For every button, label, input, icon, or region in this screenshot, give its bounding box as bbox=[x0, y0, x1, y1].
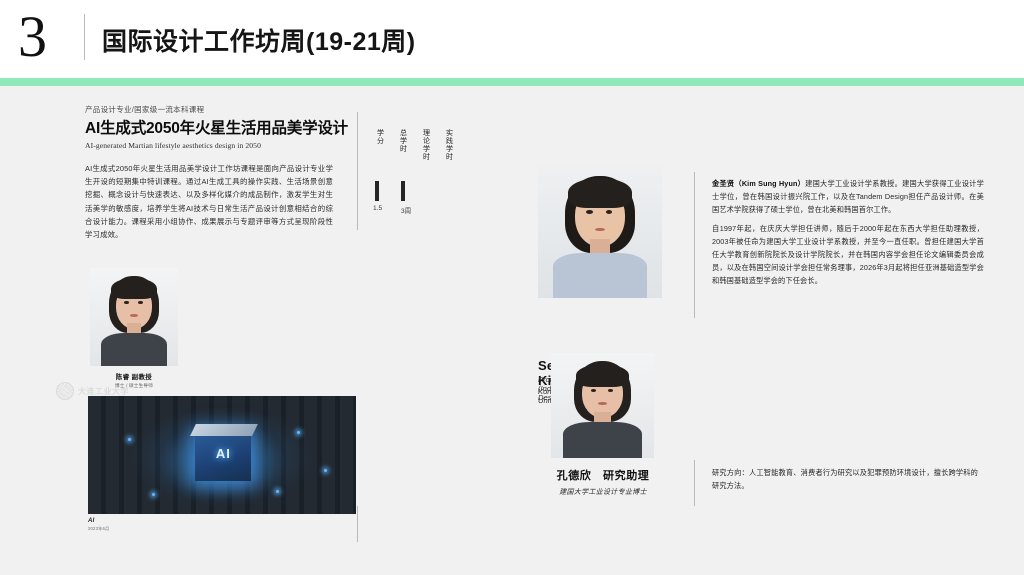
divider-right-top bbox=[694, 172, 695, 318]
credit-bars bbox=[375, 181, 405, 201]
credit-label: 实践学时 bbox=[444, 129, 454, 175]
bio-kong-paragraph-1: 研究方向：人工智能教育、消费者行为研究以及犯罪预防环境设计，擅长跨学科的研究方法… bbox=[712, 466, 978, 492]
credit-values: 1.5 3周 bbox=[373, 205, 417, 215]
credit-label: 总学时 bbox=[398, 129, 408, 175]
bio-kim: 金圣贤（Kim Sung Hyun）建国大学工业设计学系教授。建国大学获得工业设… bbox=[712, 177, 984, 293]
credit-item-1: 总学时 bbox=[398, 129, 411, 175]
bio-kim-paragraph-2: 自1997年起，在庆庆大学担任讲师，随后于2000年起在东西大学担任助理教授，2… bbox=[712, 222, 984, 287]
eye-left bbox=[591, 389, 596, 392]
ai-cube-image: AI bbox=[88, 396, 356, 514]
portrait-image bbox=[538, 165, 662, 298]
credit-item-2: 理论学时 bbox=[421, 129, 434, 175]
credit-item-3: 实践学时 bbox=[444, 129, 457, 175]
credits-labels: 学分 总学时 理论学时 实践学时 bbox=[375, 129, 457, 175]
slide-header: 3 国际设计工作坊周(19-21周) bbox=[0, 0, 1024, 78]
fringe-shape bbox=[111, 278, 157, 300]
cube-label: AI bbox=[195, 446, 251, 461]
divider-right-bottom bbox=[694, 460, 695, 506]
spark-icon bbox=[324, 469, 327, 472]
bio-kong: 研究方向：人工智能教育、消费者行为研究以及犯罪预防环境设计，擅长跨学科的研究方法… bbox=[712, 466, 978, 492]
slide-page: 3 国际设计工作坊周(19-21周) 产品设计专业/国家级一流本科课程 AI生成… bbox=[0, 0, 1024, 575]
bio-kim-paragraph-1: 金圣贤（Kim Sung Hyun）建国大学工业设计学系教授。建国大学获得工业设… bbox=[712, 177, 984, 216]
torso-shape bbox=[563, 422, 641, 458]
seal-icon bbox=[56, 382, 74, 400]
course-title-en: AI-generated Martian lifestyle aesthetic… bbox=[85, 141, 333, 150]
person-subtitle-kong: 建国大学工业设计专业博士 bbox=[525, 487, 681, 497]
torso-shape bbox=[553, 253, 647, 298]
mouth-shape bbox=[595, 228, 605, 231]
credit-label: 学分 bbox=[375, 129, 385, 175]
portrait-name: 陈睿 副教授 bbox=[90, 372, 178, 381]
eye-right bbox=[608, 389, 613, 392]
person-photo-kim bbox=[538, 165, 662, 298]
mouth-shape bbox=[598, 402, 606, 405]
ai-caption-subtitle: 2023年6月 bbox=[88, 526, 109, 532]
chapter-number: 3 bbox=[18, 6, 47, 68]
credit-value-1: 3周 bbox=[401, 205, 417, 215]
fringe-shape bbox=[568, 178, 632, 207]
credit-bar-1 bbox=[401, 181, 405, 201]
credit-item-0: 学分 bbox=[375, 129, 388, 175]
course-title-cn: AI生成式2050年火星生活用品美学设计 bbox=[85, 119, 333, 138]
fringe-shape bbox=[576, 364, 630, 387]
header-divider bbox=[84, 14, 85, 60]
eye-left bbox=[586, 210, 592, 214]
accent-bar bbox=[0, 78, 1024, 86]
torso-shape bbox=[101, 333, 168, 366]
mouth-shape bbox=[130, 314, 137, 317]
portrait-subtitle: 博士 / 硕士生导师 bbox=[90, 383, 178, 389]
ai-image-caption: AI 2023年6月 bbox=[88, 518, 109, 532]
divider-left-top bbox=[357, 112, 358, 230]
person-name-kong: 孔德欣 研究助理 bbox=[533, 467, 673, 483]
slide-canvas: 产品设计专业/国家级一流本科课程 AI生成式2050年火星生活用品美学设计 AI… bbox=[0, 86, 1024, 575]
portrait-caption: 陈睿 副教授 博士 / 硕士生导师 bbox=[90, 372, 178, 389]
page-title: 国际设计工作坊周(19-21周) bbox=[102, 22, 416, 58]
bio-kim-lead: 金圣贤（Kim Sung Hyun） bbox=[712, 179, 805, 188]
portrait-image bbox=[90, 268, 178, 366]
course-description: AI生成式2050年火星生活用品美学设计工作坊课程是面向产品设计专业学生开设的短… bbox=[85, 162, 333, 241]
cube-top-face bbox=[190, 424, 257, 436]
person-photo-kong bbox=[551, 353, 654, 458]
ai-caption-title: AI bbox=[88, 518, 109, 524]
credit-bar-0 bbox=[375, 181, 379, 201]
credit-label: 理论学时 bbox=[421, 129, 431, 175]
divider-left-bottom bbox=[357, 506, 358, 542]
credit-value-0: 1.5 bbox=[373, 205, 389, 215]
portrait-chen-rui bbox=[90, 268, 178, 366]
portrait-image bbox=[551, 353, 654, 458]
course-kicker: 产品设计专业/国家级一流本科课程 bbox=[85, 104, 333, 115]
course-info-block: 产品设计专业/国家级一流本科课程 AI生成式2050年火星生活用品美学设计 AI… bbox=[85, 104, 333, 241]
